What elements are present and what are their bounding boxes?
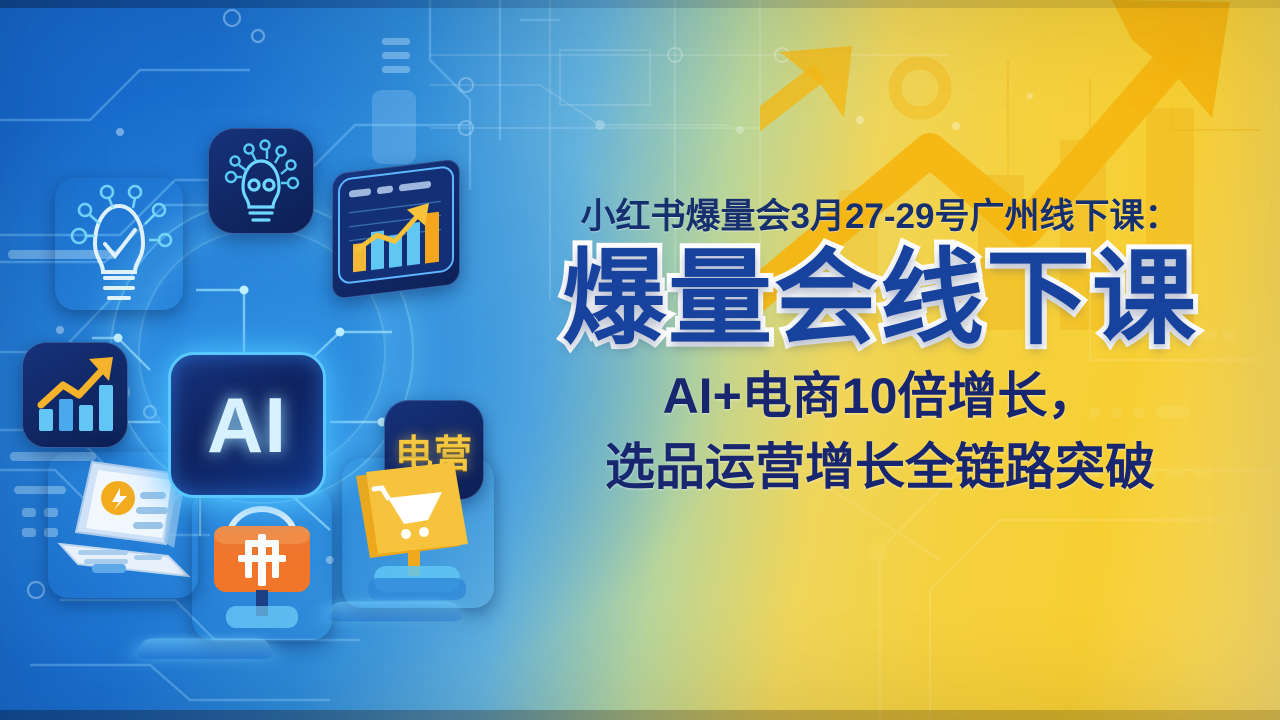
- robot-bulb-icon: [208, 128, 314, 234]
- ai-chip-label: AI: [207, 380, 287, 471]
- kicker-line: 小红书爆量会3月27-29号广州线下课：: [500, 188, 1260, 239]
- bottom-edge-shade: [0, 710, 1280, 720]
- bulb-brain-icon: [55, 178, 183, 310]
- ai-chip-icon: AI: [168, 352, 326, 498]
- top-edge-shade: [0, 0, 1280, 8]
- bar-chart-arrow-icon: [22, 342, 128, 448]
- poster-canvas: 电营: [0, 0, 1280, 720]
- text-block: 小红书爆量会3月27-29号广州线下课： 爆量会线下课 AI+电商10倍增长， …: [500, 188, 1260, 497]
- subtitle-line-1: AI+电商10倍增长，: [500, 367, 1260, 426]
- pedestal-cart: [326, 602, 465, 622]
- page-title: 爆量会线下课: [500, 243, 1260, 355]
- cart-monitor-icon: [342, 458, 494, 608]
- dashboard-chart-icon: [332, 158, 460, 300]
- subtitle-line-2: 选品运营增长全链路突破: [500, 438, 1260, 497]
- pedestal-sign: [135, 638, 274, 659]
- hanging-sign-icon: [192, 488, 332, 640]
